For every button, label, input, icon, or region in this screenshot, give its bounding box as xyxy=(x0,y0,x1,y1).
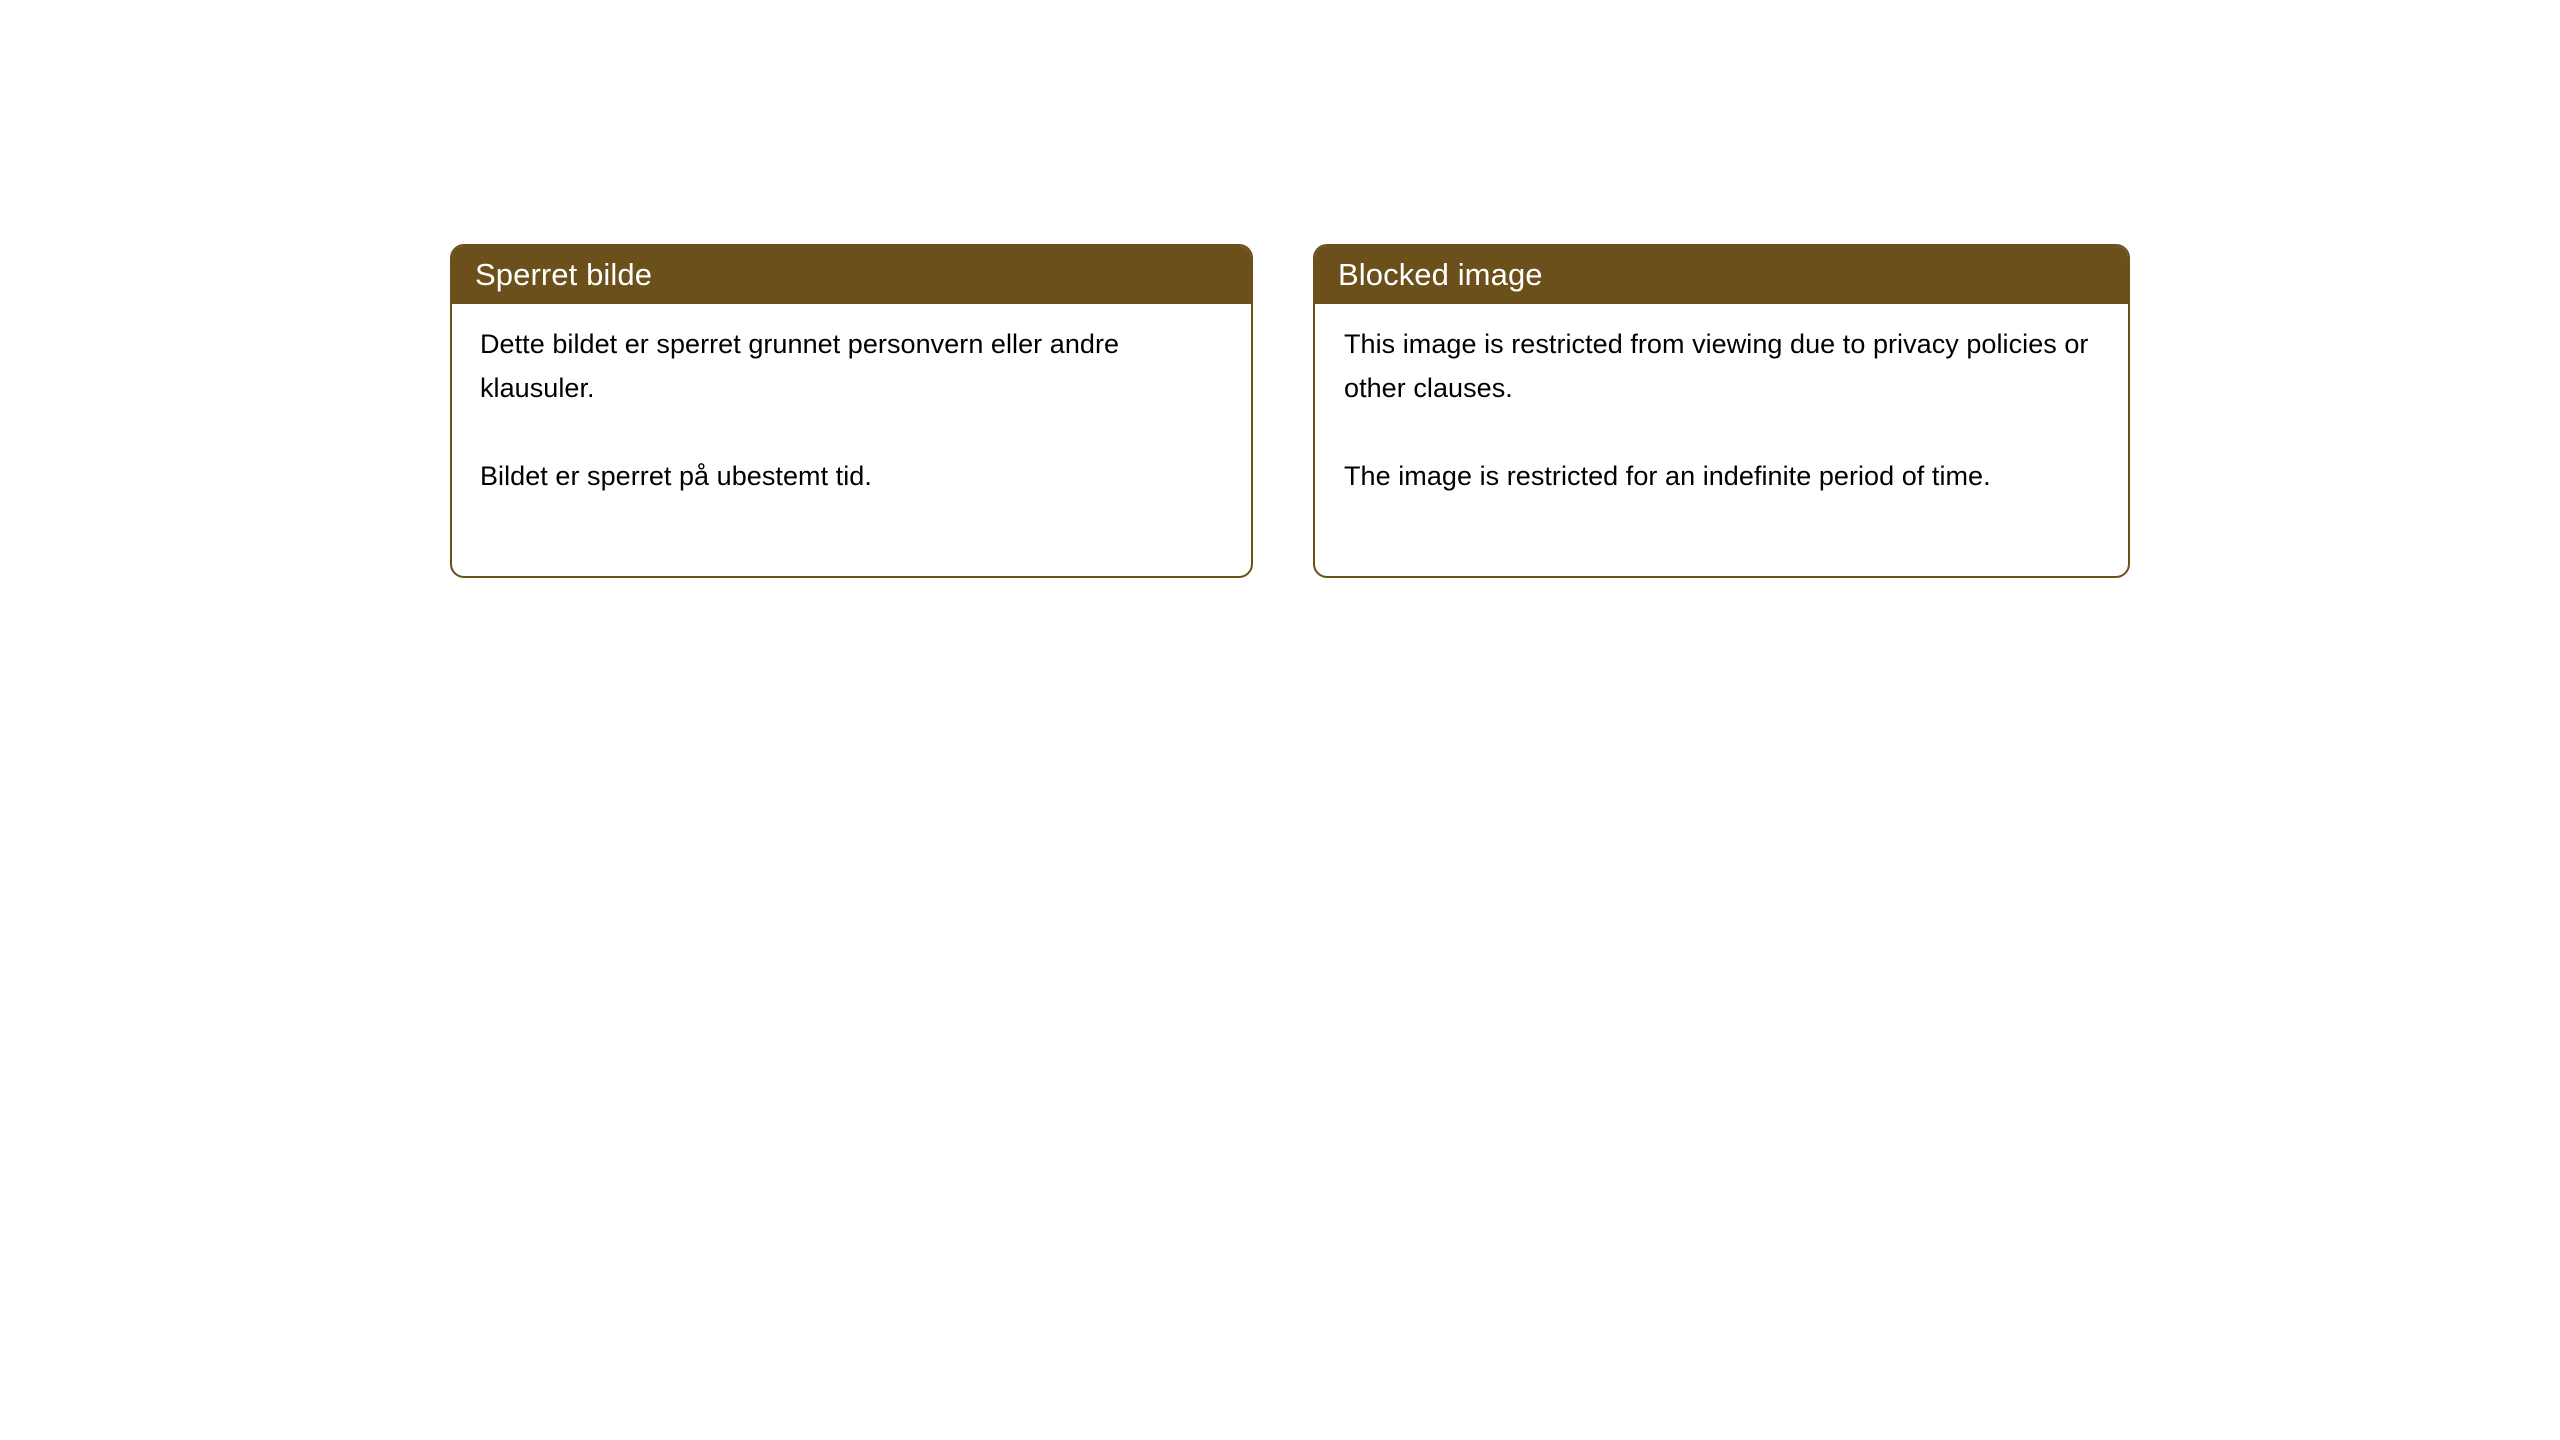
page-canvas: Sperret bilde Dette bildet er sperret gr… xyxy=(0,0,2560,1440)
card-paragraph-secondary-english: The image is restricted for an indefinit… xyxy=(1344,454,2104,498)
blocked-image-card-english: Blocked image This image is restricted f… xyxy=(1313,244,2130,578)
card-body-norwegian: Dette bildet er sperret grunnet personve… xyxy=(452,304,1251,498)
card-header-norwegian: Sperret bilde xyxy=(452,246,1251,304)
card-title-english: Blocked image xyxy=(1338,258,1543,292)
card-header-english: Blocked image xyxy=(1315,246,2128,304)
card-body-english: This image is restricted from viewing du… xyxy=(1315,304,2128,498)
card-paragraph-primary-norwegian: Dette bildet er sperret grunnet personve… xyxy=(480,322,1231,410)
card-title-norwegian: Sperret bilde xyxy=(475,258,652,292)
card-paragraph-secondary-norwegian: Bildet er sperret på ubestemt tid. xyxy=(480,454,1231,498)
blocked-image-card-norwegian: Sperret bilde Dette bildet er sperret gr… xyxy=(450,244,1253,578)
card-paragraph-primary-english: This image is restricted from viewing du… xyxy=(1344,322,2104,410)
